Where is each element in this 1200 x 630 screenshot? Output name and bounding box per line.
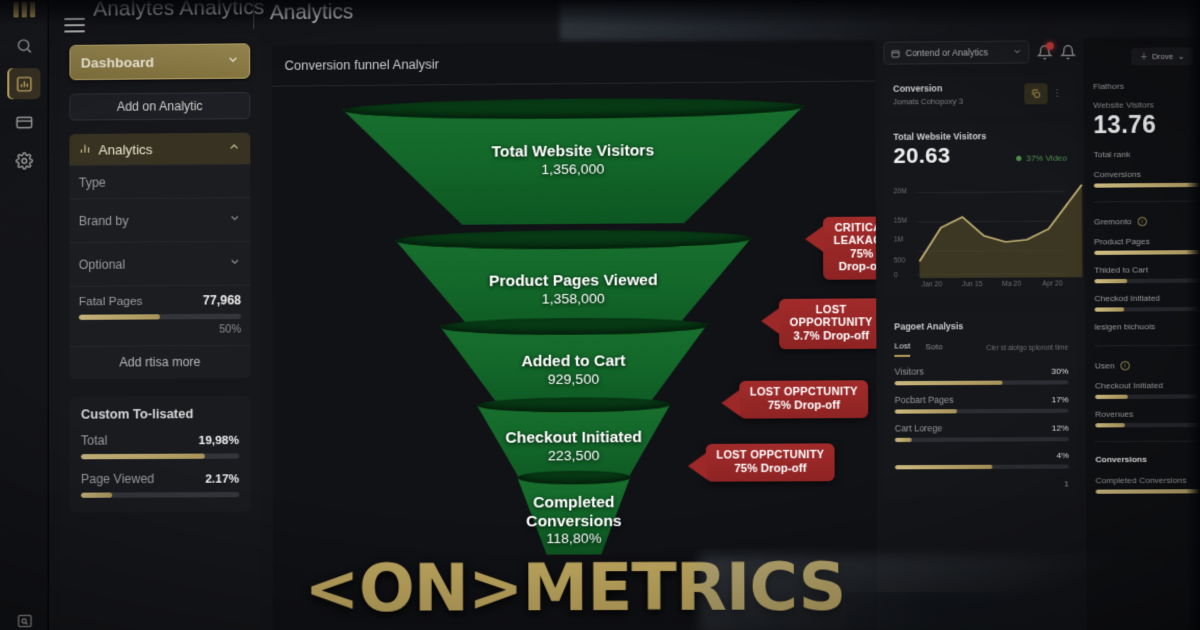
right-row-totalrank-label: Total rank [1094, 150, 1131, 160]
callout-1-subtitle: 75% Drop-off [834, 248, 878, 274]
monitor-photo: Analytes Analytics Analytics Dashboard A… [0, 0, 1200, 630]
callout-arrow-icon [761, 307, 780, 334]
app-logo-icon [0, 0, 48, 23]
fatal-pages-value: 77,968 [203, 293, 241, 308]
kpi-delta-label: 37% Video [1026, 153, 1067, 163]
middle-right-column: Contend or Analytics Conversion Jomats C… [883, 38, 1079, 630]
right-row-conversions-progress [1094, 182, 1200, 187]
conversion-card-title: Conversion [893, 82, 1024, 94]
funnel-stage-1[interactable]: Total Website Visitors 1,356,000 [342, 97, 804, 226]
right-row-checkoutinit-label: Checkod Initiated [1094, 293, 1160, 303]
right-divider [1094, 200, 1200, 202]
right-row-addedtocart-label: Thided to Cart [1094, 265, 1148, 275]
kpi-value: 20.63 [893, 144, 950, 170]
right-row-completedconv-progress [1096, 489, 1200, 494]
callout-3-box: LOST OPPCTUNITY 75% Drop-off [739, 380, 868, 418]
right-row-checkoutinit: Checkod Initiated 1% [1094, 293, 1200, 303]
plus-icon: ＋ [1140, 50, 1148, 62]
right-row-conversions: Conversions 50.18% [1094, 169, 1200, 180]
add-drove-button[interactable]: ＋ Drove ⌄ [1131, 47, 1193, 65]
conversion-card-more-button[interactable]: ⋮ [1048, 83, 1067, 104]
sidebar-row-type[interactable]: Type [69, 164, 250, 199]
rail-item-billing[interactable] [7, 106, 40, 137]
callout-4-box: LOST OPPCTUNITY 75% Drop-off [706, 443, 835, 481]
right-row-addedtocart-progress [1094, 278, 1200, 283]
callout-3-subtitle: 75% Drop-off [750, 399, 858, 412]
analysis-card-title: Pagoet Analysis [894, 320, 1068, 332]
right-section-4: Conversions 0.0% [1095, 454, 1200, 465]
callout-4-title: LOST OPPCTUNITY [716, 449, 824, 462]
custom-row-pageviewed-value: 2.17% [205, 473, 239, 486]
analysis-row-productpages-label: Pocbart Pages [895, 394, 954, 405]
chart-icon [15, 75, 33, 93]
right-row-totalrank: Total rank 103.5% [1094, 149, 1200, 160]
rail-item-search[interactable] [7, 30, 40, 61]
callout-3-title: LOST OPPCTUNITY [750, 386, 858, 399]
analysis-card: Pagoet Analysis Lost Soto Cier st alotgo… [885, 312, 1079, 498]
right-row-addedtocart: Thided to Cart 30% [1094, 264, 1200, 274]
calendar-icon [891, 48, 901, 57]
callout-2[interactable]: LOST OPPORTUNITY 3.7% Drop-off [779, 298, 878, 349]
right-divider [1095, 345, 1200, 347]
context-select-label: Contend or Analytics [906, 47, 988, 58]
analysis-row-visitors-label: Visitors [894, 366, 923, 377]
context-select[interactable]: Contend or Analytics [883, 40, 1029, 64]
analytics-accordion-body: Type Brand by Optional Fatal Pages 77,96… [69, 164, 250, 379]
right-row-revenues-label: Rovenues [1095, 409, 1133, 419]
callout-1[interactable]: CRITICAL LEAKAGE 75% Drop-off [823, 216, 878, 279]
analysis-row-extra: 4% [895, 451, 1069, 470]
custom-row-total-value: 19,98% [198, 435, 239, 448]
x-tick-2: Ma 20 [1002, 281, 1021, 288]
right-row-revenues-progress [1095, 423, 1200, 428]
callout-4-subtitle: 75% Drop-off [716, 462, 824, 475]
custom-row-pageviewed-label: Page Viewed [81, 471, 154, 486]
callout-arrow-icon [688, 452, 707, 479]
funnel-stage-1-value: 1,356,000 [343, 159, 805, 178]
analysis-tab-note: Cier st alotgo sploront time [986, 344, 1068, 352]
callout-2-box: LOST OPPORTUNITY 3.7% Drop-off [779, 298, 878, 349]
page-title: Analytics [270, 1, 353, 26]
custom-row-pageviewed-progress [81, 492, 239, 498]
brand-title: Analytes Analytics [93, 0, 264, 22]
analysis-row-cartlorege-label: Cart Lorege [895, 423, 943, 434]
funnel-stage-5-value: 118,80% [517, 531, 631, 547]
app-header: Analytes Analytics Analytics [49, 0, 1200, 33]
custom-row-total-label: Total [81, 433, 107, 448]
x-tick-1: Jun 15 [962, 281, 983, 288]
analytics-accordion-header[interactable]: Analytics [69, 133, 250, 166]
hamburger-icon[interactable] [64, 18, 85, 32]
analysis-row-cartlorege: Cart Lorege 12% [895, 422, 1069, 442]
zoom-icon [16, 613, 33, 630]
right-row-completedconv-label: Completed Conversions [1095, 475, 1186, 485]
analysis-tabs: Lost Soto Cier st alotgo sploront time [894, 340, 1068, 357]
right-row-productpages: Product Pages 169% [1094, 236, 1200, 246]
analysis-row-visitors-progress [894, 380, 1068, 385]
add-drove-label: Drove [1152, 51, 1173, 61]
notification-badge [1046, 42, 1053, 49]
conversion-card-action-button[interactable] [1024, 83, 1047, 104]
bell-icon [1060, 44, 1076, 60]
status-dot [1017, 156, 1022, 161]
chevron-down-icon [229, 255, 242, 271]
analysis-card-footer: 1 [895, 479, 1069, 489]
fatal-pages-percent: 50% [79, 323, 241, 336]
funnel-panel: Conversion funnel Analysir Total Website… [272, 40, 878, 630]
y-tick-2: 1M [894, 236, 904, 243]
right-row-conversions-label: Conversions [1094, 170, 1141, 180]
right-row-productpages-label: Product Pages [1094, 237, 1150, 247]
funnel-stage-3-value: 929,500 [440, 370, 708, 387]
funnel-stage-3-name: Added to Cart [440, 352, 708, 372]
sidebar-row-brandby[interactable]: Brand by [69, 197, 250, 242]
search-icon [15, 36, 33, 54]
conversion-card: Conversion Jomats Cohopoxy 3 ⋮ [883, 74, 1076, 115]
add-more-label: Add rtisa more [119, 354, 200, 369]
fatal-pages-label: Fatal Pages [79, 296, 143, 309]
funnel-stage-5[interactable]: Completed Conversions 118,80% [517, 470, 631, 554]
funnel-stage-2-value: 1,358,000 [395, 289, 752, 307]
funnel-stage-4-name: Checkout Initiated [477, 428, 671, 447]
y-tick-3: 500 [894, 257, 906, 264]
callout-2-title: LOST OPPORTUNITY [790, 304, 873, 330]
x-tick-0: Jan 20 [922, 281, 943, 288]
right-column-toolbar: ＋ Drove ⌄ ⛶ ⚙ [1093, 45, 1200, 67]
right-row-bichuois-label: lesigen bichuois [1095, 322, 1156, 332]
analysis-row-visitors-value: 30% [1051, 367, 1068, 377]
chevron-down-icon: ⌄ [1178, 51, 1185, 61]
y-tick-4: 0 [894, 272, 898, 279]
tab-lost[interactable]: Lost [894, 341, 910, 357]
callout-arrow-icon [721, 389, 740, 416]
workspace-select[interactable]: Dashboard [69, 43, 250, 80]
kpi-card: Total Website Visitors 20.63 37% Video 2… [884, 122, 1078, 296]
midcol-toolbar: Contend or Analytics [883, 38, 1076, 67]
add-analytic-label: Add on Analytic [117, 99, 203, 114]
header-divider [253, 0, 254, 29]
alerts-button[interactable] [1060, 44, 1076, 60]
funnel-chart: Total Website Visitors 1,356,000 Product… [272, 82, 877, 546]
rail-item-analytics[interactable] [7, 68, 40, 99]
chevron-down-icon [226, 53, 240, 70]
right-row-productpages-progress [1094, 250, 1200, 255]
notifications-button[interactable] [1037, 44, 1053, 60]
right-section-1-big: 13.76 [1093, 110, 1200, 140]
area-chart: 20M 15M 1M 500 0 Jan 20 Jun 15 Ma 20 Apr… [893, 176, 1067, 287]
right-row-revenues: Rovenues 0.3% [1095, 409, 1200, 419]
onmetrics-logo: <ON>METRICS [273, 548, 878, 626]
analysis-row-productpages: Pocbart Pages 17% [895, 394, 1069, 414]
right-row-usercheckout-label: Checkout Initiated [1095, 381, 1163, 391]
chevron-up-icon [227, 140, 241, 157]
right-column: ＋ Drove ⌄ ⛶ ⚙ Flathors Website Visitors … [1083, 36, 1200, 630]
analysis-row-cartlorege-progress [895, 437, 1069, 442]
rail-item-settings[interactable] [7, 145, 40, 176]
callout-1-box: CRITICAL LEAKAGE 75% Drop-off [823, 216, 878, 279]
right-section-3-title: Usen [1095, 361, 1115, 371]
sidebar: Dashboard Add on Analytic Analytics Type [60, 35, 260, 630]
fatal-pages-progress [79, 314, 241, 320]
conversion-card-subtitle: Jomats Cohopoxy 3 [893, 96, 1024, 107]
right-row-usercheckout-progress [1095, 394, 1200, 399]
right-row-usercheckout: Checkout Initiated 22% [1095, 380, 1200, 390]
sidebar-row-optional[interactable]: Optional [69, 241, 250, 286]
copy-icon [1031, 88, 1042, 99]
workspace-select-label: Dashboard [81, 54, 154, 70]
callout-3[interactable]: LOST OPPCTUNITY 75% Drop-off [739, 380, 868, 418]
card-icon [15, 113, 33, 131]
y-tick-1: 15M [894, 217, 907, 224]
add-more-button[interactable]: Add rtisa more [69, 345, 250, 377]
custom-card-title: Custom To-lisated [81, 406, 239, 421]
area-chart-series [917, 176, 1085, 278]
right-row-checkoutinit-progress [1094, 307, 1200, 312]
info-icon[interactable]: i [1120, 361, 1130, 371]
gear-icon [15, 151, 33, 169]
kpi-delta: 37% Video [1017, 153, 1067, 163]
funnel-stage-2-name: Product Pages Viewed [395, 271, 752, 292]
custom-row-total-progress [81, 453, 239, 459]
info-icon[interactable]: i [1137, 217, 1147, 227]
callout-2-subtitle: 3.7% Drop-off [790, 330, 873, 343]
x-tick-3: Apr 20 [1042, 280, 1062, 287]
fatal-pages-metric: Fatal Pages 77,968 50% [69, 285, 250, 346]
sidebar-row-optional-label: Optional [79, 257, 125, 272]
screen-surface: Analytes Analytics Analytics Dashboard A… [0, 0, 1200, 630]
chevron-down-icon [1012, 46, 1022, 58]
funnel-stage-4-value: 223,500 [477, 447, 671, 464]
analytics-accordion-label: Analytics [98, 141, 152, 157]
right-section-2-title: Gremonto [1094, 217, 1132, 227]
tab-soto[interactable]: Soto [925, 342, 943, 356]
right-section-4-title: Conversions [1095, 455, 1147, 465]
analysis-row-extra-value: 4% [1056, 451, 1068, 461]
right-row-bichuois: lesigen bichuois 5 [1095, 321, 1200, 331]
right-section-1-lead: Website Visitors [1093, 99, 1200, 110]
add-analytic-button[interactable]: Add on Analytic [69, 92, 250, 121]
chevron-down-icon [228, 212, 241, 228]
analysis-row-cartlorege-value: 12% [1052, 423, 1069, 433]
right-divider [1095, 440, 1200, 442]
sidebar-row-brandby-label: Brand by [79, 213, 129, 228]
y-tick-0: 20M [894, 188, 907, 195]
analysis-row-visitors: Visitors 30% [894, 365, 1068, 385]
funnel-stage-5-name: Completed Conversions [517, 494, 631, 531]
callout-4[interactable]: LOST OPPCTUNITY 75% Drop-off [706, 443, 835, 481]
rail-item-zoom[interactable] [0, 613, 49, 630]
right-section-3: Usen i [1095, 360, 1200, 370]
callout-arrow-icon [805, 225, 824, 252]
right-row-completedconv: Completed Conversions 50$ [1095, 475, 1200, 485]
funnel-panel-title: Conversion funnel Analysir [272, 40, 875, 74]
analysis-row-productpages-value: 17% [1051, 395, 1068, 405]
custom-card: Custom To-lisated Total 19,98% Page View… [69, 396, 250, 512]
callout-1-title: CRITICAL LEAKAGE [834, 222, 878, 248]
analysis-row-extra-progress [895, 464, 1069, 469]
sidebar-row-type-label: Type [79, 175, 106, 190]
analysis-row-productpages-progress [895, 409, 1069, 414]
right-section-2: Gremonto i [1094, 216, 1200, 227]
bar-chart-icon [79, 142, 91, 158]
right-section-1-title: Flathors [1093, 80, 1200, 91]
icon-rail [0, 0, 49, 630]
